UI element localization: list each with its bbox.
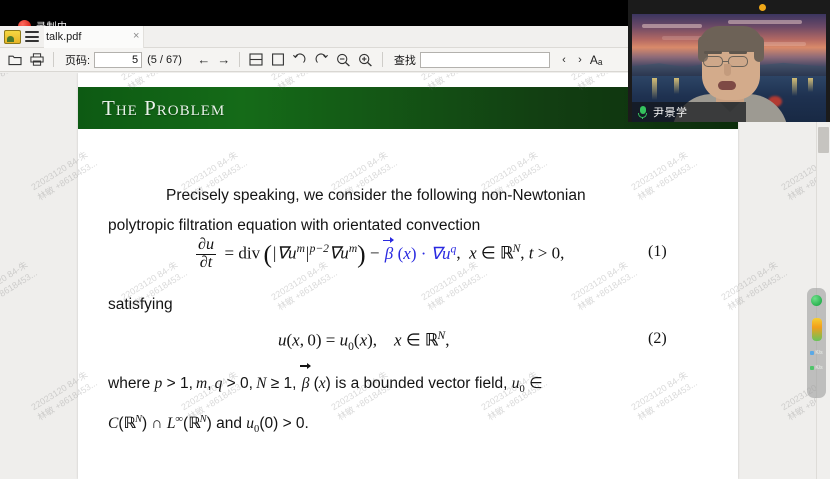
hamburger-menu-icon[interactable] — [25, 30, 39, 43]
satisfying-label: satisfying — [108, 290, 173, 320]
watermark-text: 22023120 84-朱林敏 +8618453... — [0, 73, 39, 93]
microphone-icon — [638, 106, 647, 119]
close-icon[interactable]: × — [133, 30, 139, 43]
beta-vector-symbol: β — [384, 244, 394, 264]
video-panel[interactable]: 尹景学 — [628, 0, 830, 122]
folder-open-icon[interactable] — [4, 50, 26, 70]
upload-indicator-icon — [810, 351, 814, 355]
single-page-icon[interactable] — [267, 50, 289, 70]
network-status-dot-icon — [811, 295, 822, 306]
page-number-label: 页码: — [65, 52, 90, 68]
scrollbar-thumb[interactable] — [818, 127, 829, 153]
paragraph-where: where p > 1, m, q > 0, N ≥ 1, β (x) is a… — [108, 369, 690, 445]
rotate-counterclockwise-icon[interactable] — [289, 50, 311, 70]
app-logo-icon — [4, 30, 21, 44]
network-speed-widget[interactable]: K/s K/s — [807, 288, 826, 398]
where-line2: C(ℝN) ∩ L∞(ℝN) and u0(0) > 0. — [108, 415, 309, 432]
equation-2: u(x, 0) = u0(x), x ∈ ℝN, — [278, 329, 449, 353]
split-view-icon[interactable] — [245, 50, 267, 70]
toolbar-divider-2 — [239, 52, 240, 67]
vertical-scrollbar[interactable]: ˄ — [816, 73, 830, 479]
find-next-button[interactable]: › — [572, 54, 588, 66]
status-dot-icon — [759, 4, 766, 11]
page-count-label: (5 / 67) — [147, 54, 182, 66]
download-speed-row: K/s — [810, 365, 822, 371]
zoom-out-icon[interactable] — [333, 50, 355, 70]
rotate-clockwise-icon[interactable] — [311, 50, 333, 70]
watermark-text: 22023120 84-朱林敏 +8618453... — [0, 257, 39, 314]
tab-talk-pdf[interactable]: talk.pdf — [44, 26, 144, 48]
beta-vector-symbol-2: β — [301, 369, 311, 399]
find-previous-button[interactable]: ‹ — [556, 54, 572, 66]
network-gauge-icon — [812, 318, 822, 341]
pdf-page: The Problem Precisely speaking, we consi… — [78, 73, 738, 479]
paragraph-intro-line1: Precisely speaking, we consider the foll… — [166, 187, 586, 204]
previous-page-button[interactable]: ← — [194, 52, 214, 67]
equation-2-number: (2) — [648, 330, 667, 348]
page-title: The Problem — [102, 96, 225, 121]
screen-root: 录制中 talk.pdf × 页码: — [0, 0, 830, 479]
download-speed-unit: K/s — [815, 365, 822, 371]
toolbar-divider — [53, 52, 54, 67]
printer-icon[interactable] — [26, 50, 48, 70]
page-number-input[interactable] — [94, 52, 142, 68]
search-input[interactable] — [420, 52, 550, 68]
upload-speed-row: K/s — [810, 350, 822, 356]
participant-name-bar: 尹景学 — [632, 102, 746, 122]
toolbar-divider-3 — [382, 52, 383, 67]
paragraph-intro: Precisely speaking, we consider the foll… — [130, 181, 690, 241]
next-page-button[interactable]: → — [214, 52, 234, 67]
equation-1-number: (1) — [648, 243, 667, 261]
where-line1: where p > 1, m, q > 0, N ≥ 1, β (x) is a… — [108, 375, 543, 392]
video-feed: 尹景学 — [632, 14, 826, 122]
upload-speed-unit: K/s — [815, 350, 822, 356]
equation-1: ∂u∂t = div (|∇um|p−2∇um) − β (x) · ∇uq, … — [196, 237, 564, 272]
find-label: 查找 — [394, 52, 416, 68]
participant-name: 尹景学 — [653, 104, 688, 120]
tab-label: talk.pdf — [46, 31, 81, 43]
text-options-icon[interactable]: Aₐ — [590, 53, 602, 67]
zoom-in-icon[interactable] — [355, 50, 377, 70]
document-viewport[interactable]: The Problem Precisely speaking, we consi… — [0, 73, 830, 479]
download-indicator-icon — [810, 366, 814, 370]
